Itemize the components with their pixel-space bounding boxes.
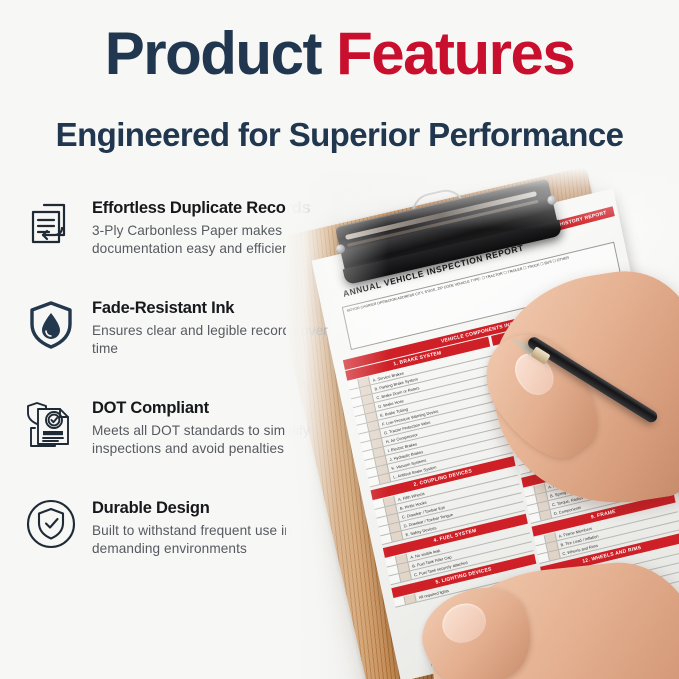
page-title: Product Features — [0, 22, 679, 85]
feature-title: Durable Design — [92, 499, 350, 519]
feature-text-block: Durable Design Built to withstand freque… — [82, 496, 350, 558]
page-subtitle: Engineered for Superior Performance — [0, 116, 679, 154]
feature-item-duplicate-records: Effortless Duplicate Records 3-Ply Carbo… — [20, 196, 350, 296]
product-features-graphic: Product Features Engineered for Superior… — [0, 0, 679, 679]
feature-list: Effortless Duplicate Records 3-Ply Carbo… — [20, 196, 350, 596]
document-check-shield-icon — [20, 396, 82, 452]
feature-description: Built to withstand frequent use in deman… — [92, 522, 350, 558]
feature-title: Effortless Duplicate Records — [92, 199, 350, 219]
feature-text-block: Effortless Duplicate Records 3-Ply Carbo… — [82, 196, 350, 258]
feature-text-block: Fade-Resistant Ink Ensures clear and leg… — [82, 296, 350, 358]
feature-description: 3-Ply Carbonless Paper makes documentati… — [92, 222, 350, 258]
feature-item-dot-compliant: DOT Compliant Meets all DOT standards to… — [20, 396, 350, 496]
feature-item-fade-resistant-ink: Fade-Resistant Ink Ensures clear and leg… — [20, 296, 350, 396]
feature-item-durable-design: Durable Design Built to withstand freque… — [20, 496, 350, 596]
circle-shield-check-icon — [20, 496, 82, 550]
shield-ink-drop-icon — [20, 296, 82, 350]
page-title-part-two: Features — [336, 20, 574, 87]
feature-text-block: DOT Compliant Meets all DOT standards to… — [82, 396, 350, 458]
feature-description: Ensures clear and legible records over t… — [92, 322, 350, 358]
feature-description: Meets all DOT standards to simplify insp… — [92, 422, 350, 458]
feature-title: DOT Compliant — [92, 399, 350, 419]
feature-title: Fade-Resistant Ink — [92, 299, 350, 319]
page-title-part-one: Product — [105, 20, 321, 87]
duplicate-documents-icon — [20, 196, 82, 250]
